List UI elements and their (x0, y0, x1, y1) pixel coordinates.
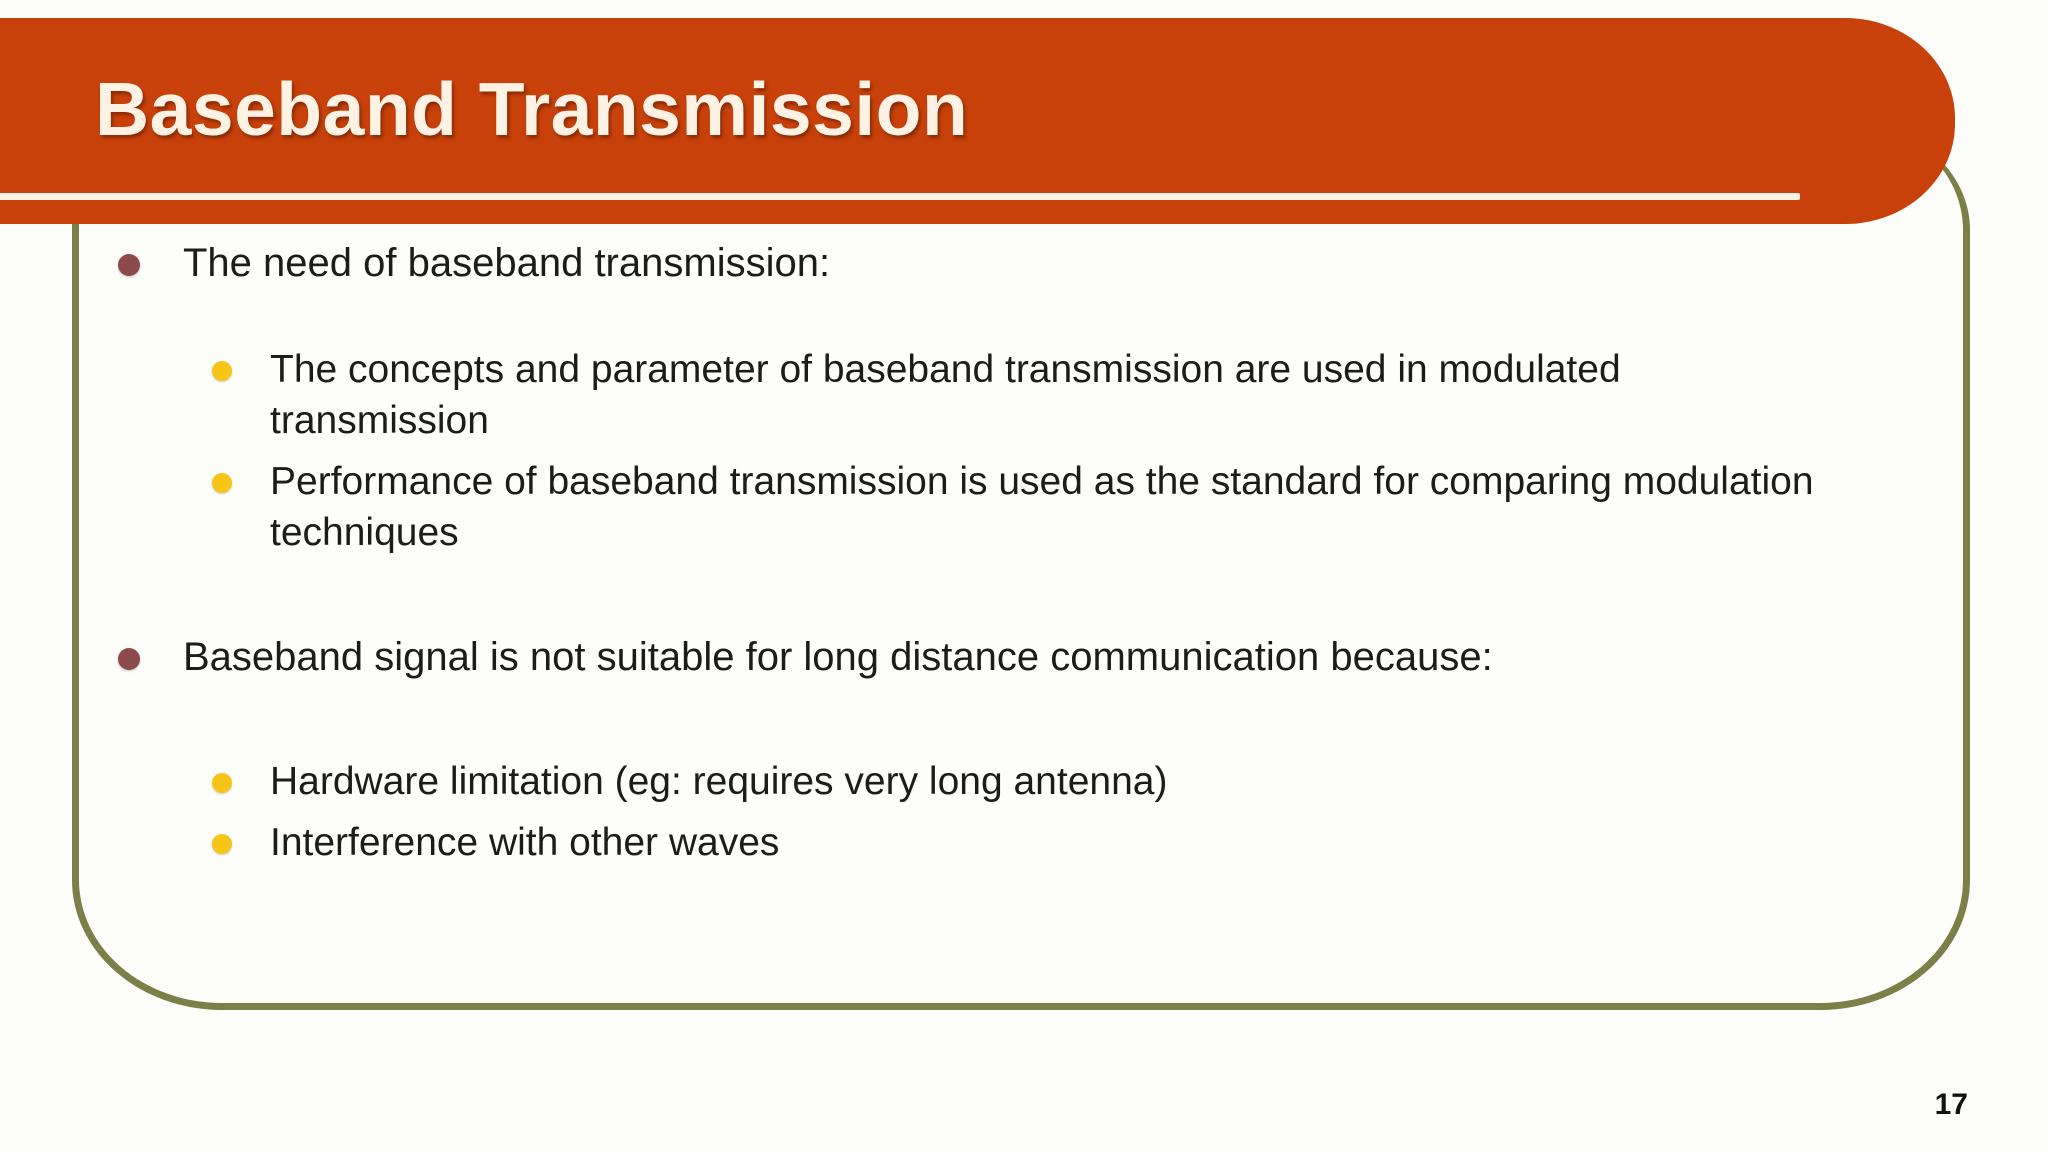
bullet-text: Baseband signal is not suitable for long… (183, 635, 1493, 679)
spacer (0, 558, 2048, 630)
maroon-dot-bullet-icon (118, 648, 140, 670)
slide-canvas: Baseband Transmission The need of baseba… (0, 0, 2048, 1152)
bullet-item-level1: The need of baseband transmission: (110, 236, 1863, 290)
gold-dot-bullet-icon (212, 473, 232, 493)
bullet-text: The concepts and parameter of baseband t… (270, 348, 1621, 442)
bullet-item-level2: Performance of baseband transmission is … (200, 456, 1830, 558)
bullet-text: Performance of baseband transmission is … (270, 460, 1814, 554)
bullet-item-level2: The concepts and parameter of baseband t… (200, 344, 1830, 446)
bullet-item-level1: Baseband signal is not suitable for long… (110, 630, 1863, 684)
bullet-text: Interference with other waves (270, 821, 779, 864)
gold-dot-bullet-icon (212, 834, 232, 854)
spacer (0, 446, 2048, 456)
title-banner-underline (0, 193, 1800, 200)
spacer (0, 684, 2048, 756)
bullet-item-level2: Hardware limitation (eg: requires very l… (200, 756, 1830, 807)
spacer (0, 807, 2048, 817)
bullet-item-level2: Interference with other waves (200, 817, 1830, 868)
page-title: Baseband Transmission (95, 66, 968, 152)
slide-body: The need of baseband transmission: The c… (0, 236, 2048, 868)
gold-dot-bullet-icon (212, 773, 232, 793)
title-banner: Baseband Transmission (0, 18, 1955, 224)
gold-dot-bullet-icon (212, 361, 232, 381)
page-number: 17 (1935, 1088, 1968, 1122)
bullet-text: The need of baseband transmission: (183, 241, 830, 285)
maroon-dot-bullet-icon (118, 254, 140, 276)
spacer (0, 290, 2048, 344)
bullet-text: Hardware limitation (eg: requires very l… (270, 760, 1167, 803)
